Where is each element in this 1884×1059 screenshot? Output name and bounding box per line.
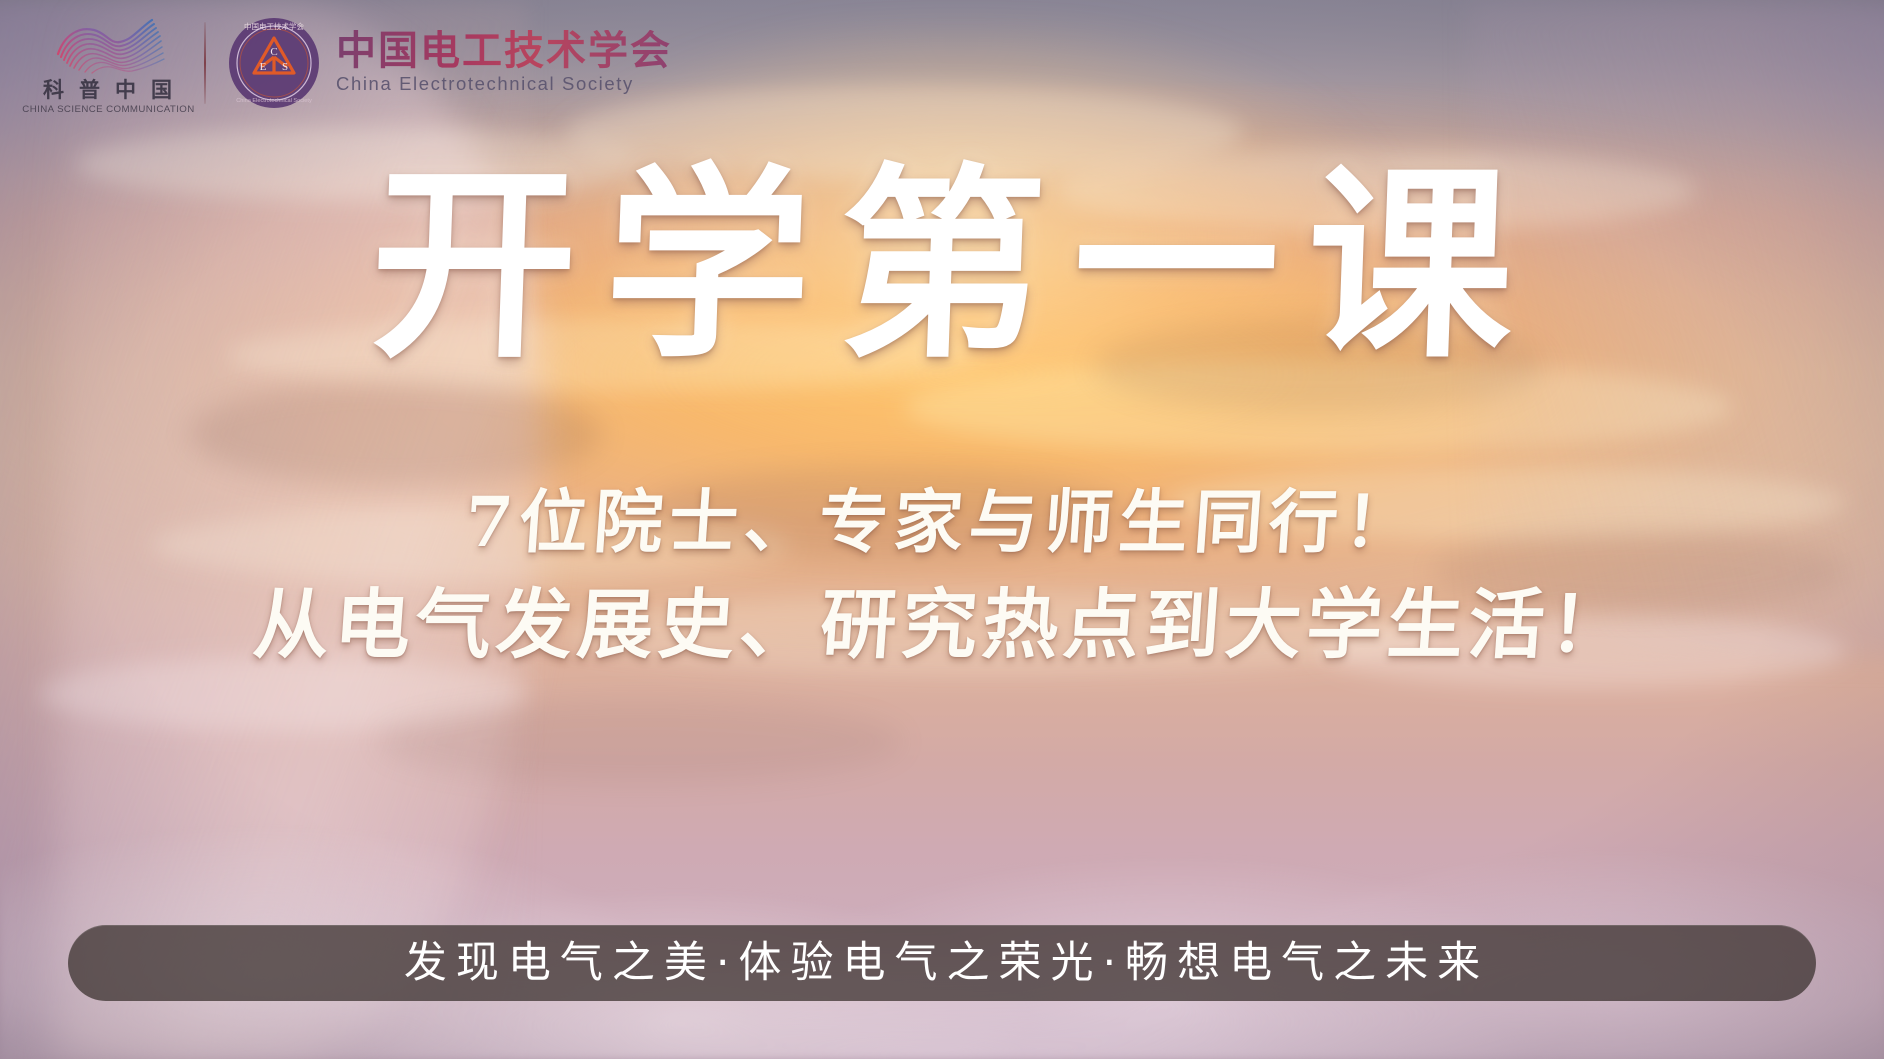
kepu-china-logo[interactable]: 科 普 中 国 CHINA SCIENCE COMMUNICATION [24,10,192,115]
ces-logo[interactable]: C E S 中国电工技术学会 China Electrotechnical So… [228,17,672,109]
page-title: 开学第一课 [339,150,1545,381]
kepu-cn-name: 科 普 中 国 [43,80,173,101]
tagline-text: 发现电气之美·体验电气之荣光·畅想电气之未来 [395,942,1489,985]
poster-canvas: 科 普 中 国 CHINA SCIENCE COMMUNICATION [0,0,1884,1059]
kepu-char: 国 [151,80,173,101]
subtitle-line-1: 7位院士、专家与师生同行！ [0,480,1884,566]
main-title-block: 开学第一课 [0,150,1884,381]
tagline-banner: 发现电气之美·体验电气之荣光·畅想电气之未来 [68,925,1816,1001]
svg-text:C: C [270,46,277,58]
kepu-char: 普 [79,80,101,101]
ces-en-name: China Electrotechnical Society [336,73,672,95]
ces-cn-name: 中国电工技术学会 [336,30,672,72]
subtitle-block: 7位院士、专家与师生同行！ 从电气发展史、研究热点到大学生活！ [0,480,1884,674]
ces-text-block: 中国电工技术学会 China Electrotechnical Society [336,30,672,95]
kepu-en-name: CHINA SCIENCE COMMUNICATION [22,104,194,115]
kepu-char: 科 [43,80,65,101]
header-logos: 科 普 中 国 CHINA SCIENCE COMMUNICATION [24,10,672,115]
svg-text:S: S [282,61,288,73]
ces-circular-seal-icon: C E S 中国电工技术学会 China Electrotechnical So… [228,17,320,109]
feather-wing-logo-icon [48,10,168,78]
svg-text:中国电工技术学会: 中国电工技术学会 [244,21,304,31]
logo-divider [204,22,206,104]
svg-text:China Electrotechnical Society: China Electrotechnical Society [236,98,312,104]
kepu-char: 中 [115,80,137,101]
subtitle-line-2: 从电气发展史、研究热点到大学生活！ [0,576,1884,673]
svg-text:E: E [260,61,267,73]
cloud-shadow [188,381,602,487]
